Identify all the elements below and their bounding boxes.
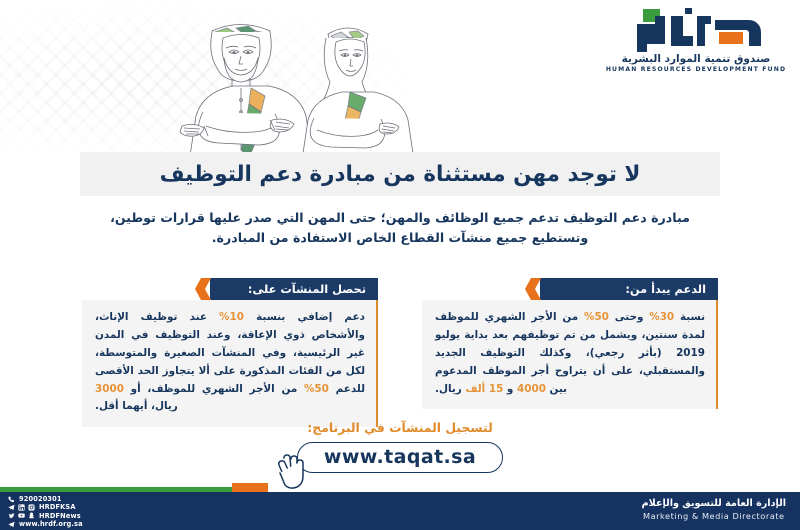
contact-hrdfnews[interactable]: HRDFNews [8,512,83,520]
footer-contacts: 920020301 [8,495,83,529]
highlighted-value: 50% [304,383,329,395]
contact-phone-text: 920020301 [19,495,62,504]
establishments-panel-title: تحصل المنشآت على: [248,282,366,296]
telegram-icon [8,504,15,511]
chevron-left-icon [195,278,211,300]
highlighted-value: 4000 [517,383,546,395]
cta-label: لتسجيل المنشآت في البرنامج: [0,420,800,435]
establishments-panel: تحصل المنشآت على: دعم إضافي بنسبة 10% عن… [82,278,378,427]
couple-illustration [120,8,450,160]
footer-department: الإدارة العامة للتسويق والإعلام Marketin… [642,498,786,521]
twitter-icon [8,512,15,519]
establishments-panel-body: دعم إضافي بنسبة 10% عند توظيف الإناث، وا… [82,300,378,427]
contact-website[interactable]: www.hrdf.org.sa [8,520,83,528]
cta-pill-wrap: www.taqat.sa [297,442,503,473]
intro-paragraph: مبادرة دعم التوظيف تدعم جميع الوظائف وال… [95,208,705,249]
phone-icon [8,496,15,503]
instagram-icon [28,504,35,511]
logo-english-name: HUMAN RESOURCES DEVELOPMENT FUND [606,66,786,73]
contact-phone[interactable]: 920020301 [8,495,83,503]
highlighted-value: 30% [649,311,674,323]
establishments-panel-header: تحصل المنشآت على: [210,278,378,300]
chevron-left-icon [525,278,541,300]
page-title: لا توجد مهن مستثناة من مبادرة دعم التوظي… [160,162,641,187]
support-panel-body: نسبة 30% وحتى 50% من الأجر الشهري للموظف… [422,300,718,409]
support-panel-header: الدعم يبدأ من: [540,278,718,300]
hrdf-logo-mark [627,6,765,52]
contact-website-text: www.hrdf.org.sa [19,520,83,529]
highlighted-value: 50% [584,311,609,323]
support-panel-title: الدعم يبدأ من: [625,282,706,296]
logo-arabic-name: صندوق تنمية الموارد البشرية [622,53,771,65]
hand-cursor-icon [271,452,307,490]
contact-hrdfksa-text: HRDFKSA [39,503,76,512]
youtube-icon [18,512,25,519]
contact-hrdfksa[interactable]: HRDFKSA [8,503,83,511]
infographic-poster: صندوق تنمية الموارد البشرية HUMAN RESOUR… [0,0,800,530]
department-name-arabic: الإدارة العامة للتسويق والإعلام [642,498,786,509]
headline-band: لا توجد مهن مستثناة من مبادرة دعم التوظي… [80,152,720,196]
linkedin-icon [18,504,25,511]
footer-bar: 920020301 [0,492,800,530]
department-name-english: Marketing & Media Directorate [642,511,786,521]
support-panel: الدعم يبدأ من: نسبة 30% وحتى 50% من الأج… [422,278,718,409]
highlighted-value: 3000 [95,383,124,395]
support-panel-text: نسبة 30% وحتى 50% من الأجر الشهري للموظف… [435,309,705,398]
link-icon [8,521,15,528]
hrdf-logo: صندوق تنمية الموارد البشرية HUMAN RESOUR… [610,6,782,84]
taqat-url-button[interactable]: www.taqat.sa [297,442,503,473]
contact-hrdfnews-text: HRDFNews [39,512,81,521]
snapchat-icon [28,512,35,519]
establishments-panel-text: دعم إضافي بنسبة 10% عند توظيف الإناث، وا… [95,309,365,416]
highlighted-value: 15 ألف [465,383,503,395]
call-to-action: لتسجيل المنشآت في البرنامج: www.taqat.sa [0,420,800,473]
highlighted-value: 10% [219,311,244,323]
